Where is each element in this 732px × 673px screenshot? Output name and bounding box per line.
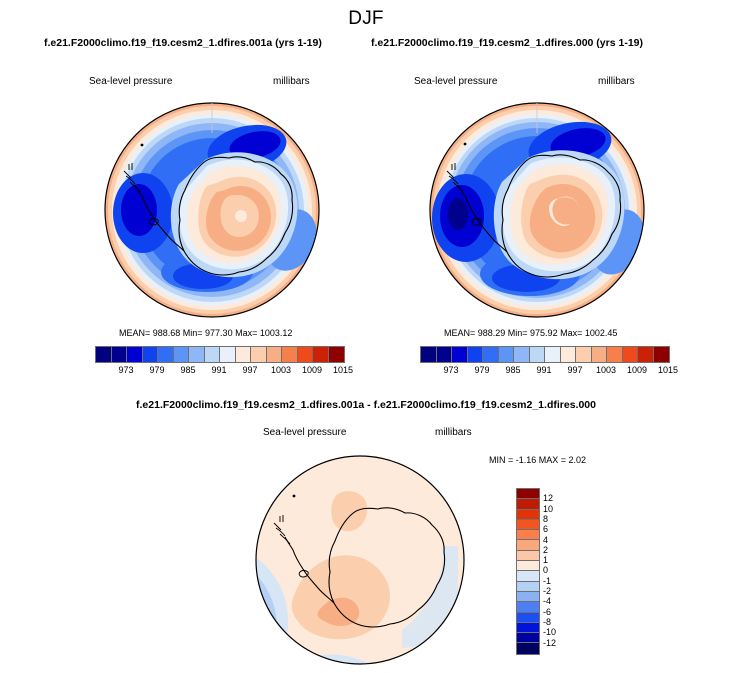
difference-units-label: millibars [435, 427, 472, 438]
colorbar-cell [517, 592, 539, 602]
colorbar-cell [517, 582, 539, 592]
colorbar-cell [437, 347, 453, 362]
colorbar-cell [517, 530, 539, 540]
colorbar-cell [517, 643, 539, 653]
colorbar-cell [561, 347, 577, 362]
colorbar-cell [592, 347, 608, 362]
difference-stats: MIN = -1.16 MAX = 2.02 [489, 455, 586, 465]
difference-case-title: f.e21.F2000climo.f19_f19.cesm2_1.dfires.… [0, 399, 732, 411]
difference-variable-label: Sea-level pressure [263, 427, 346, 438]
top-right-colorbar[interactable] [420, 346, 670, 363]
colorbar-cell [517, 571, 539, 581]
colorbar-cell [517, 633, 539, 643]
small-island-dot [141, 144, 144, 147]
colorbar-cell [298, 347, 314, 362]
small-island-dot [464, 143, 467, 146]
colorbar-cell [143, 347, 159, 362]
tick-label: 8 [543, 514, 548, 524]
colorbar-cell [421, 347, 437, 362]
top-left-polar-contour-plot [95, 100, 330, 320]
colorbar-cell [517, 510, 539, 520]
tick-label: 997 [567, 365, 582, 375]
tick-label: 1015 [333, 365, 353, 375]
colorbar-cell [236, 347, 252, 362]
small-island-dot [293, 495, 296, 498]
tick-label: 973 [118, 365, 133, 375]
colorbar-cell [517, 551, 539, 561]
tick-label: 991 [536, 365, 551, 375]
tick-label: 1015 [658, 365, 678, 375]
colorbar-cell [220, 347, 236, 362]
colorbar-cell [313, 347, 329, 362]
colorbar-cell [483, 347, 499, 362]
colorbar-cell [158, 347, 174, 362]
colorbar-cell [517, 613, 539, 623]
tick-label: 1003 [596, 365, 616, 375]
top-left-colorbar-ticklabels: 973 979 985 991 997 1003 1009 1015 [95, 365, 345, 377]
tick-label: -8 [543, 617, 551, 627]
tick-label: -2 [543, 586, 551, 596]
difference-map [252, 452, 472, 668]
tick-label: 0 [543, 565, 548, 575]
tick-label: 1 [543, 555, 548, 565]
top-left-stats: MEAN= 988.68 Min= 977.30 Max= 1003.12 [119, 328, 292, 338]
tick-label: 991 [211, 365, 226, 375]
colorbar-cell [517, 520, 539, 530]
tick-label: 985 [180, 365, 195, 375]
difference-polar-contour-plot [252, 452, 472, 668]
colorbar-cell [96, 347, 112, 362]
colorbar-cell [329, 347, 345, 362]
tick-label: 4 [543, 535, 548, 545]
top-right-polar-contour-plot [420, 100, 655, 320]
colorbar-cell [517, 623, 539, 633]
colorbar-cell [517, 489, 539, 499]
colorbar-cell [127, 347, 143, 362]
tick-label: 1003 [271, 365, 291, 375]
top-left-map [95, 100, 330, 320]
colorbar-cell [251, 347, 267, 362]
colorbar-cell [282, 347, 298, 362]
colorbar-cell [530, 347, 546, 362]
top-left-case-title: f.e21.F2000climo.f19_f19.cesm2_1.dfires.… [44, 37, 322, 49]
top-right-map [420, 100, 655, 320]
tick-label: -1 [543, 576, 551, 586]
top-right-variable-label: Sea-level pressure [414, 76, 497, 87]
top-right-case-title: f.e21.F2000climo.f19_f19.cesm2_1.dfires.… [371, 37, 643, 49]
colorbar-cell [517, 602, 539, 612]
colorbar-cell [545, 347, 561, 362]
tick-label: 979 [149, 365, 164, 375]
tick-label: 12 [543, 493, 553, 503]
colorbar-cell [514, 347, 530, 362]
colorbar-cell [174, 347, 190, 362]
tick-label: 997 [242, 365, 257, 375]
tick-label: 973 [443, 365, 458, 375]
tick-label: 985 [505, 365, 520, 375]
colorbar-cell [112, 347, 128, 362]
colorbar-cell [638, 347, 654, 362]
colorbar-cell [468, 347, 484, 362]
colorbar-cell [623, 347, 639, 362]
tick-label: -6 [543, 607, 551, 617]
colorbar-cell [517, 540, 539, 550]
colorbar-cell [499, 347, 515, 362]
top-right-stats: MEAN= 988.29 Min= 975.92 Max= 1002.45 [444, 328, 617, 338]
tick-label: -10 [543, 627, 556, 637]
top-left-units-label: millibars [273, 76, 310, 87]
difference-colorbar[interactable] [516, 488, 540, 655]
tick-label: 1009 [627, 365, 647, 375]
colorbar-cell [576, 347, 592, 362]
tick-label: -4 [543, 596, 551, 606]
top-left-variable-label: Sea-level pressure [89, 76, 172, 87]
tick-label: 6 [543, 524, 548, 534]
top-left-colorbar[interactable] [95, 346, 345, 363]
tick-label: 2 [543, 545, 548, 555]
season-title: DJF [0, 8, 732, 30]
colorbar-cell [654, 347, 670, 362]
colorbar-cell [517, 561, 539, 571]
figure-canvas: DJF f.e21.F2000climo.f19_f19.cesm2_1.dfi… [0, 0, 732, 673]
top-right-units-label: millibars [598, 76, 635, 87]
top-right-colorbar-ticklabels: 973 979 985 991 997 1003 1009 1015 [420, 365, 670, 377]
colorbar-cell [267, 347, 283, 362]
colorbar-cell [452, 347, 468, 362]
tick-label: 10 [543, 504, 553, 514]
tick-label: 979 [474, 365, 489, 375]
tick-label: 1009 [302, 365, 322, 375]
tick-label: -12 [543, 638, 556, 648]
colorbar-cell [517, 499, 539, 509]
colorbar-cell [205, 347, 221, 362]
colorbar-cell [607, 347, 623, 362]
colorbar-cell [189, 347, 205, 362]
